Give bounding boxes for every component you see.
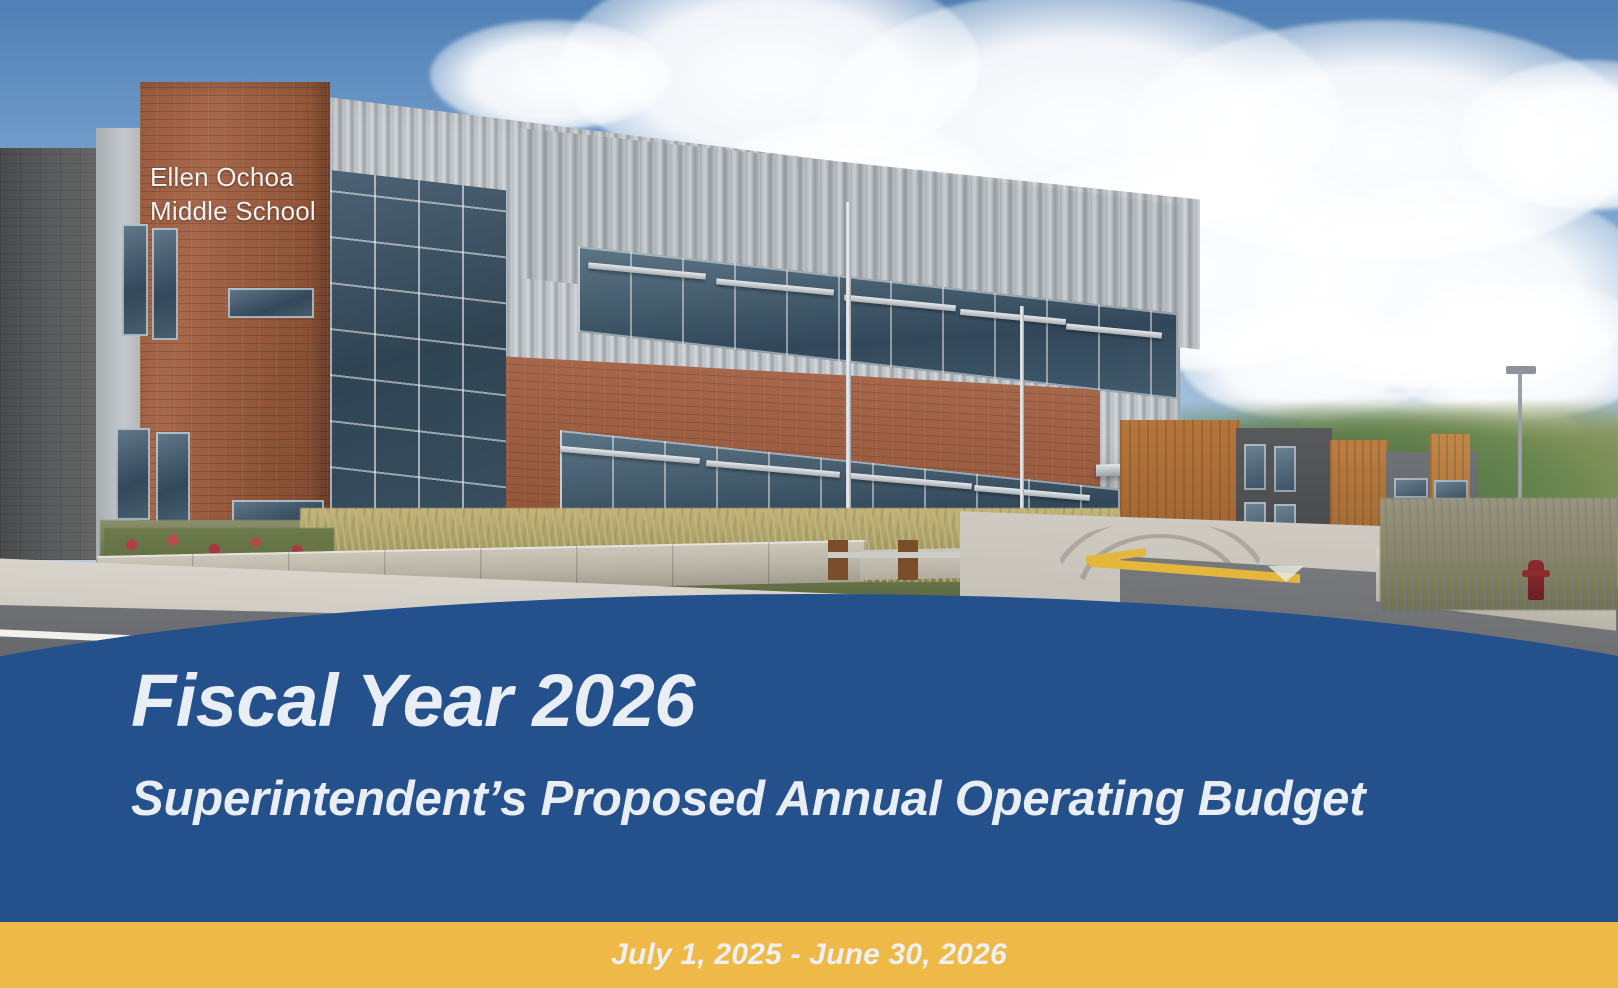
- fiscal-period-label: July 1, 2025 - June 30, 2026: [611, 938, 1007, 972]
- page-title: Fiscal Year 2026: [131, 664, 695, 738]
- window: [152, 228, 178, 340]
- building-name-line-1: Ellen Ochoa: [150, 161, 350, 195]
- window: [122, 224, 148, 336]
- page-subtitle: Superintendent’s Proposed Annual Operati…: [131, 775, 1365, 824]
- title-banner: Fiscal Year 2026 Superintendent’s Propos…: [0, 560, 1618, 922]
- window: [116, 428, 150, 520]
- window: [1244, 444, 1266, 490]
- presentation-slide: Ellen Ochoa Middle School Fiscal Year 20…: [0, 0, 1618, 988]
- building-name-line-2: Middle School: [150, 195, 350, 229]
- window: [156, 432, 190, 524]
- window: [228, 288, 314, 318]
- building-name-signage: Ellen Ochoa Middle School: [150, 161, 350, 229]
- banner-text-group: Fiscal Year 2026 Superintendent’s Propos…: [0, 560, 1618, 922]
- window: [1274, 446, 1296, 492]
- window: [1394, 478, 1428, 498]
- date-range-footer: July 1, 2025 - June 30, 2026: [0, 922, 1618, 988]
- window: [1434, 480, 1468, 500]
